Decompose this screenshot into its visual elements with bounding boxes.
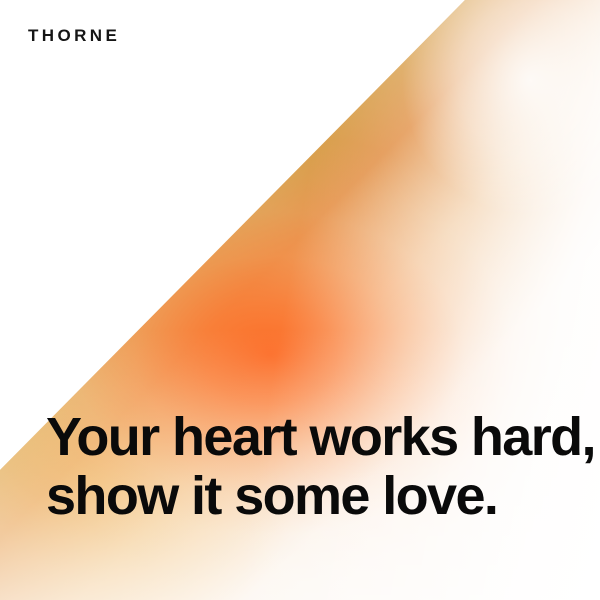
- poster-canvas: THORNE Your heart works hard, show it so…: [0, 0, 600, 600]
- headline-line-2: show it some love.: [46, 467, 586, 526]
- headline-line-1: Your heart works hard,: [46, 408, 586, 467]
- headline: Your heart works hard, show it some love…: [46, 408, 586, 525]
- gradient-apex-highlight: [380, 0, 600, 240]
- brand-logo: THORNE: [28, 27, 120, 44]
